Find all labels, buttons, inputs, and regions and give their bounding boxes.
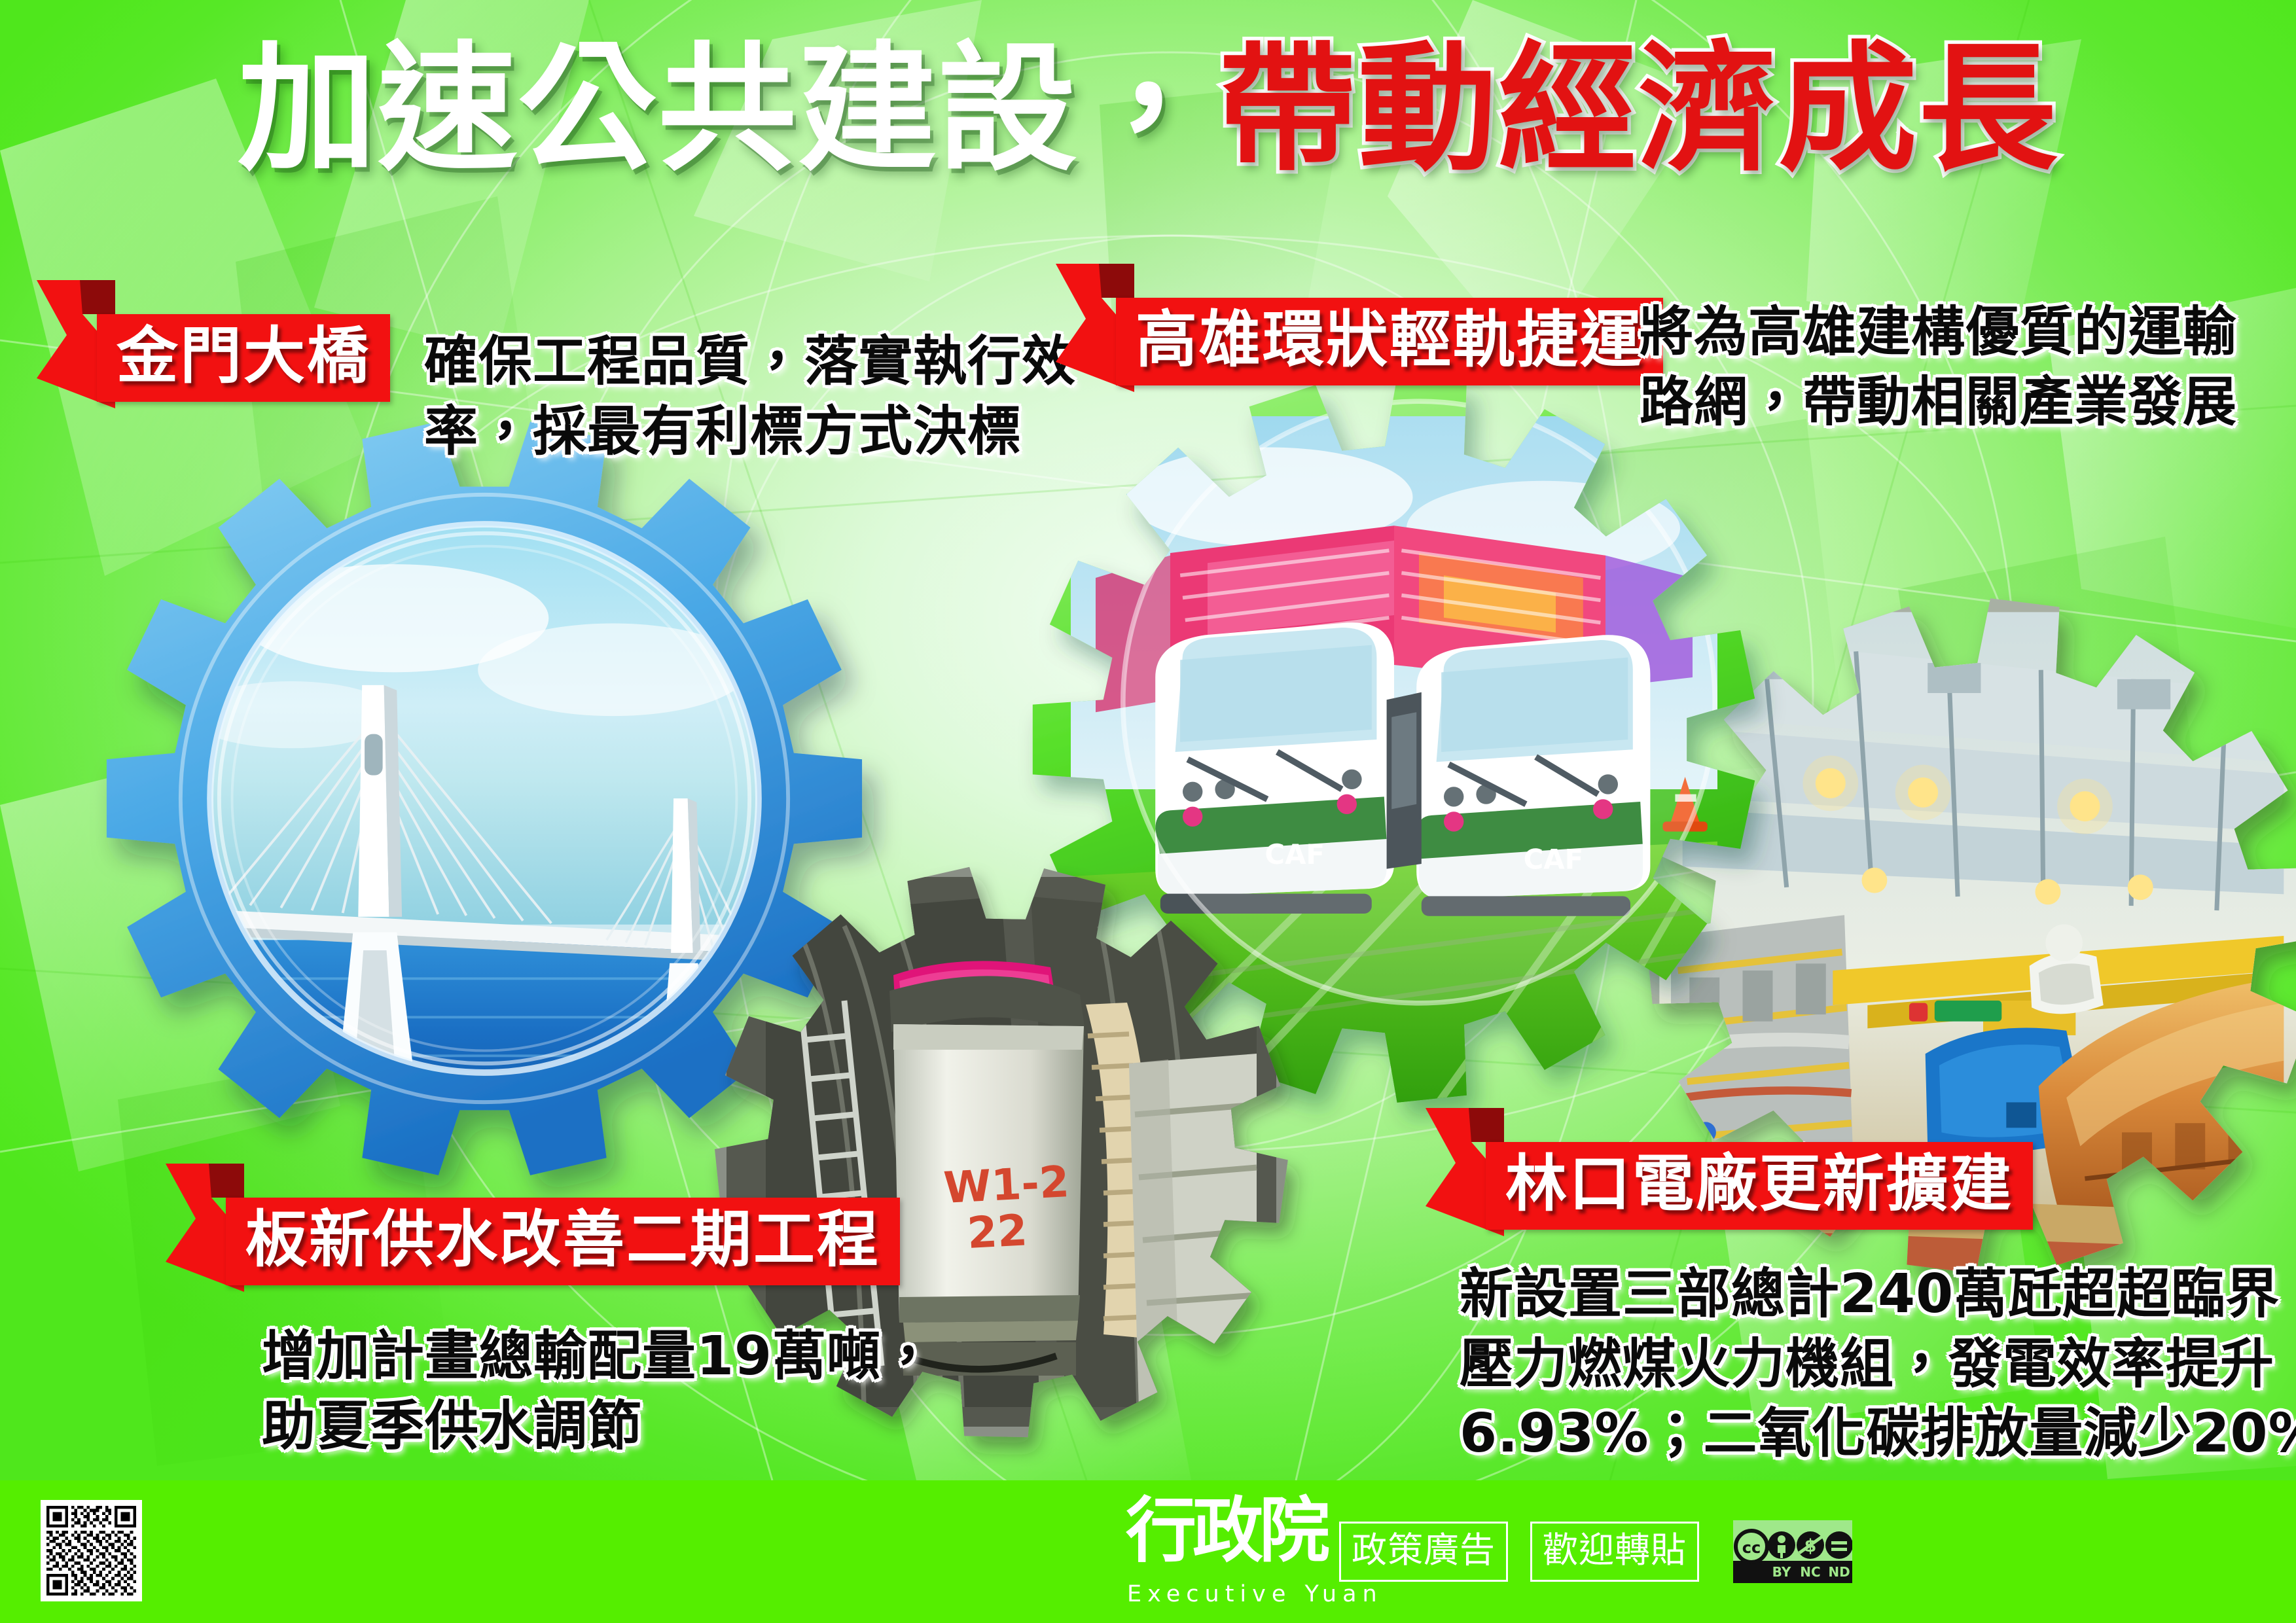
executive-yuan-mark-en: Executive Yuan: [1127, 1581, 1383, 1607]
banner-plate: 金門大橋: [97, 314, 390, 402]
section-kinmen-bridge: 金門大橋 確保工程品質，落實執行效 率，採最有利標方式決標: [97, 314, 390, 402]
desc-line: 壓力燃煤火力機組，發電效率提升: [1460, 1330, 2296, 1400]
cc-label-nd: ND: [1828, 1564, 1850, 1580]
banner-label-linkou-power-plant: 林口電廠更新擴建: [1505, 1152, 2013, 1217]
footer-bar: 行政院 Executive Yuan 政策廣告 歡迎轉貼 cc: [0, 1480, 2296, 1623]
poster-root: 加速公共建設，帶動經濟成長: [0, 0, 2296, 1623]
svg-text:cc: cc: [1742, 1539, 1761, 1557]
section-kaohsiung-light-rail: 高雄環狀輕軌捷運 將為高雄建構優質的運輸 路網，帶動相關產業發展: [1116, 298, 1663, 385]
section-linkou-power-plant: 林口電廠更新擴建 新設置三部總計240萬瓩超超臨界 壓力燃煤火力機組，發電效率提…: [1486, 1142, 2033, 1230]
title-part-red: 帶動經濟成長: [1218, 31, 2058, 187]
cc-label-nc: NC: [1800, 1564, 1820, 1580]
desc-line: 確保工程品質，落實執行效: [424, 327, 1076, 397]
description-water-supply: 增加計畫總輸配量19萬噸， 助夏季供水調節: [262, 1322, 935, 1461]
description-kinmen-bridge: 確保工程品質，落實執行效 率，採最有利標方式決標: [424, 327, 1076, 467]
desc-line: 將為高雄建構優質的運輸: [1640, 298, 2237, 368]
svg-text:W1-2: W1-2: [942, 1156, 1071, 1213]
description-kaohsiung-light-rail: 將為高雄建構優質的運輸 路網，帶動相關產業發展: [1640, 298, 2237, 437]
banner-kaohsiung-light-rail: 高雄環狀輕軌捷運: [1116, 298, 1663, 385]
desc-line: 增加計畫總輸配量19萬噸，: [262, 1322, 935, 1392]
banner-kinmen-bridge: 金門大橋: [97, 314, 390, 402]
qr-code[interactable]: [41, 1500, 142, 1601]
tag-welcome-share: 歡迎轉貼: [1530, 1522, 1699, 1582]
svg-text:22: 22: [966, 1205, 1029, 1258]
desc-line: 新設置三部總計240萬瓩超超臨界: [1460, 1260, 2296, 1330]
banner-label-water-supply: 板新供水改善二期工程: [245, 1208, 880, 1272]
tag-policy-ad: 政策廣告: [1339, 1522, 1508, 1582]
description-linkou-power-plant: 新設置三部總計240萬瓩超超臨界 壓力燃煤火力機組，發電效率提升 6.93%；二…: [1460, 1260, 2296, 1469]
banner-linkou-power-plant: 林口電廠更新擴建: [1486, 1142, 2033, 1230]
executive-yuan-mark-zh: 行政院: [1126, 1492, 1304, 1581]
banner-water-supply: 板新供水改善二期工程: [226, 1198, 900, 1285]
banner-label-kinmen-bridge: 金門大橋: [117, 325, 370, 389]
banner-plate: 板新供水改善二期工程: [226, 1198, 900, 1285]
desc-line: 6.93%；二氧化碳排放量減少20%: [1460, 1399, 2296, 1469]
banner-plate: 林口電廠更新擴建: [1486, 1142, 2033, 1230]
desc-line: 路網，帶動相關產業發展: [1640, 368, 2237, 438]
executive-yuan-logo: 行政院 Executive Yuan: [1121, 1489, 1317, 1614]
poster-title: 加速公共建設，帶動經濟成長: [0, 31, 2296, 187]
creative-commons-badge[interactable]: cc $ BY NC ND: [1733, 1520, 1852, 1583]
title-part-white: 加速公共建設，: [238, 31, 1218, 187]
desc-line: 率，採最有利標方式決標: [424, 397, 1076, 467]
cc-label-by: BY: [1772, 1564, 1791, 1580]
banner-plate: 高雄環狀輕軌捷運: [1116, 298, 1663, 385]
footer-center-group: 行政院 Executive Yuan 政策廣告 歡迎轉貼 cc: [1121, 1480, 1852, 1623]
section-water-supply: 板新供水改善二期工程 增加計畫總輸配量19萬噸， 助夏季供水調節: [226, 1198, 900, 1285]
banner-label-kaohsiung-light-rail: 高雄環狀輕軌捷運: [1136, 308, 1643, 372]
desc-line: 助夏季供水調節: [262, 1392, 935, 1462]
